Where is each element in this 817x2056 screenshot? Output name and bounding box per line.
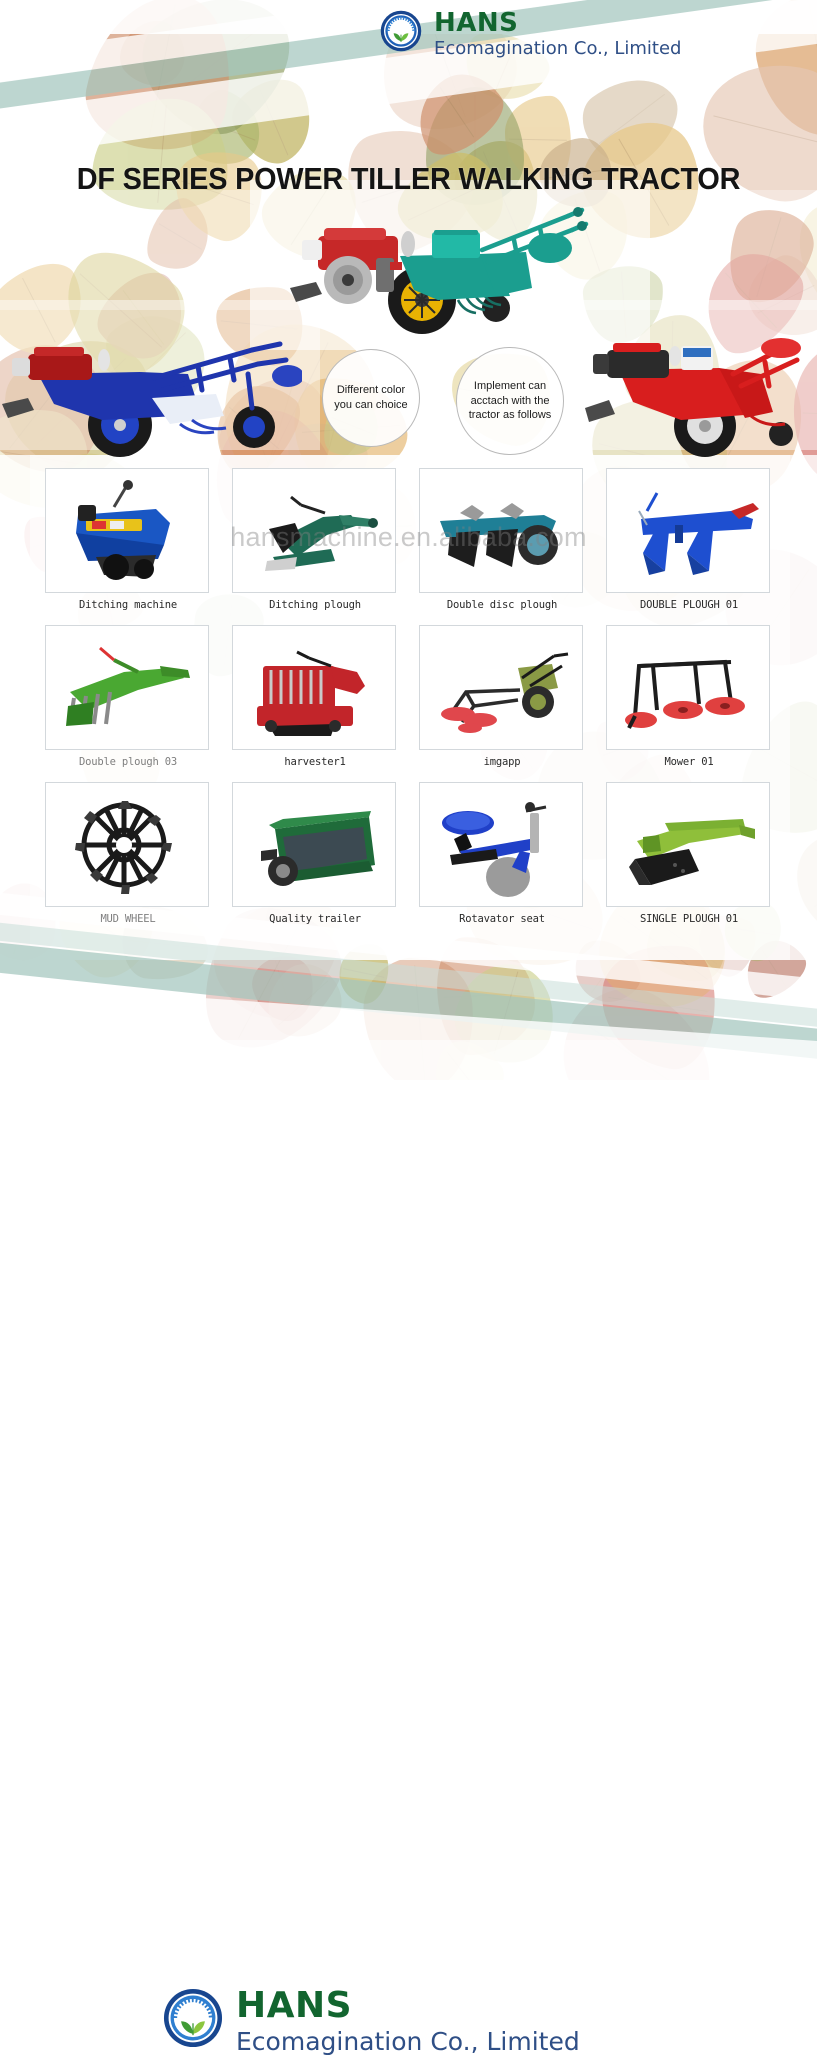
product-label: SINGLE PLOUGH 01 xyxy=(606,913,772,925)
hans-gear-leaf-icon xyxy=(378,8,424,59)
quality-trailer-icon[interactable] xyxy=(232,782,396,907)
brand-subtitle: Ecomagination Co., Limited xyxy=(236,2029,580,2054)
double-plough-03-icon[interactable] xyxy=(45,625,209,750)
mud-wheel-icon[interactable] xyxy=(45,782,209,907)
callout-text: Different color you can choice xyxy=(329,383,413,413)
footer-brand-text: HANS Ecomagination Co., Limited xyxy=(236,1988,580,2054)
brand-name: HANS xyxy=(434,10,681,36)
product-label: MUD WHEEL xyxy=(45,913,211,925)
product-label: Rotavator seat xyxy=(419,913,585,925)
hero-blue-tractor-image xyxy=(2,332,302,460)
header-band: HANS Ecomagination Co., Limited xyxy=(0,0,817,72)
ditching-plough-icon[interactable] xyxy=(232,468,396,593)
product-grid: Ditching machineDitching ploughDouble di… xyxy=(45,468,772,939)
product-cell[interactable]: Mower 01 xyxy=(606,625,772,782)
product-label: Ditching machine xyxy=(45,599,211,611)
hero-main-tractor-image xyxy=(282,196,600,336)
rotavator-seat-icon[interactable] xyxy=(419,782,583,907)
product-cell[interactable]: Double disc plough xyxy=(419,468,585,625)
double-plough-01-icon[interactable] xyxy=(606,468,770,593)
callout-color-choice: Different color you can choice xyxy=(322,349,420,447)
product-cell[interactable]: imgapp xyxy=(419,625,585,782)
product-label: Mower 01 xyxy=(606,756,772,768)
brand-name: HANS xyxy=(236,1988,580,2024)
brand-subtitle: Ecomagination Co., Limited xyxy=(434,40,681,58)
imgapp-mower-icon[interactable] xyxy=(419,625,583,750)
product-cell[interactable]: Double plough 03 xyxy=(45,625,211,782)
product-label: harvester1 xyxy=(232,756,398,768)
product-cell[interactable]: Ditching plough xyxy=(232,468,398,625)
product-cell[interactable]: MUD WHEEL xyxy=(45,782,211,939)
mower-01-icon[interactable] xyxy=(606,625,770,750)
hans-gear-leaf-icon xyxy=(160,1985,226,2056)
header-logo: HANS Ecomagination Co., Limited xyxy=(378,8,681,59)
product-cell[interactable]: Ditching machine xyxy=(45,468,211,625)
single-plough-01-icon[interactable] xyxy=(606,782,770,907)
product-cell[interactable]: Rotavator seat xyxy=(419,782,585,939)
double-disc-plough-icon[interactable] xyxy=(419,468,583,593)
product-cell[interactable]: SINGLE PLOUGH 01 xyxy=(606,782,772,939)
product-label: Ditching plough xyxy=(232,599,398,611)
hero-red-tractor-image xyxy=(585,330,815,458)
ditching-machine-icon[interactable] xyxy=(45,468,209,593)
callout-text: Implement can acctach with the tractor a… xyxy=(463,379,557,424)
product-cell[interactable]: Quality trailer xyxy=(232,782,398,939)
header-brand-text: HANS Ecomagination Co., Limited xyxy=(434,10,681,58)
product-cell[interactable]: harvester1 xyxy=(232,625,398,782)
harvester1-icon[interactable] xyxy=(232,625,396,750)
footer-logo: HANS Ecomagination Co., Limited xyxy=(160,1985,580,2056)
product-label: imgapp xyxy=(419,756,585,768)
callout-implement-attach: Implement can acctach with the tractor a… xyxy=(456,347,564,455)
product-label: DOUBLE PLOUGH 01 xyxy=(606,599,772,611)
product-label: Double plough 03 xyxy=(45,756,211,768)
page-title: DF SERIES POWER TILLER WALKING TRACTOR xyxy=(29,161,789,197)
product-label: Quality trailer xyxy=(232,913,398,925)
footer-band: HANS Ecomagination Co., Limited xyxy=(0,985,817,1080)
product-label: Double disc plough xyxy=(419,599,585,611)
product-cell[interactable]: DOUBLE PLOUGH 01 xyxy=(606,468,772,625)
